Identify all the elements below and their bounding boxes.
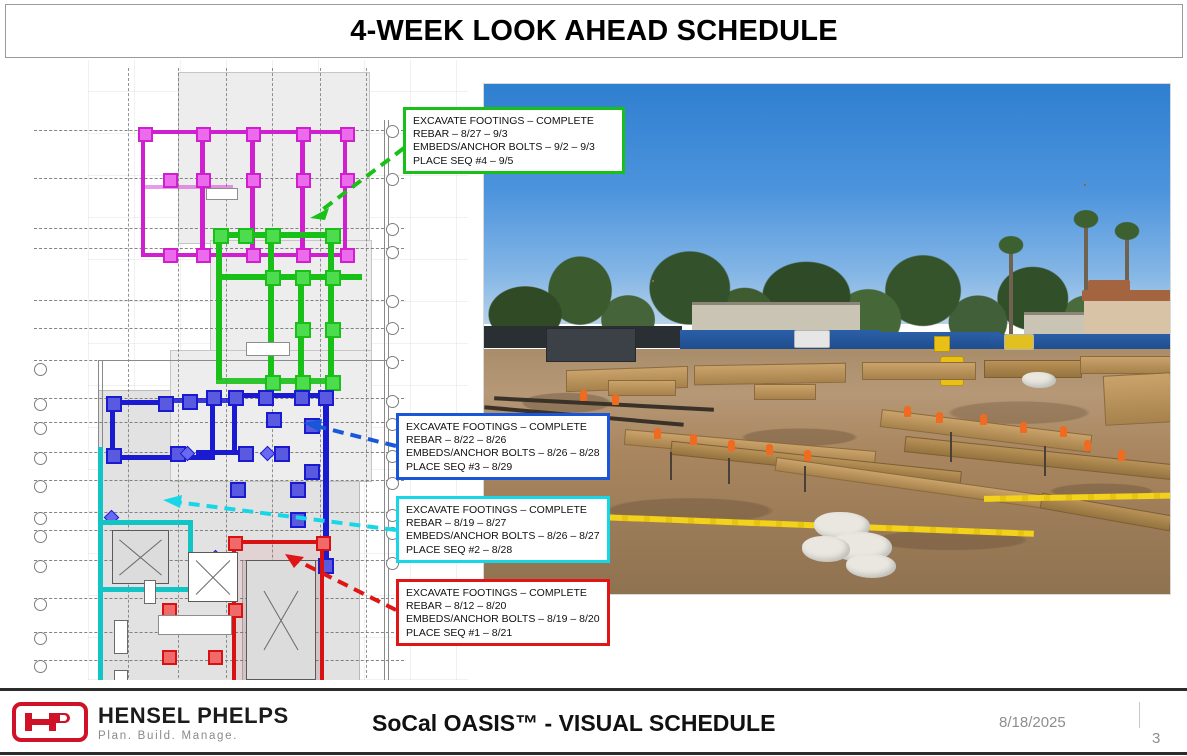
callout-seq1[interactable]: EXCAVATE FOOTINGS – COMPLETE REBAR – 8/1… — [396, 579, 610, 646]
plan-edge-line — [384, 120, 385, 680]
footing-pad-magenta — [138, 127, 153, 142]
rebar-cap — [804, 450, 811, 461]
footing-pad-blue — [290, 512, 306, 528]
footing-pad-blue — [266, 412, 282, 428]
footing-pad-magenta — [296, 127, 311, 142]
footing-pad-green — [265, 228, 281, 244]
grid-bubble — [34, 398, 47, 411]
footing-pad-red — [316, 536, 331, 551]
footer-rule-top — [0, 688, 1187, 691]
footing-pad-magenta — [196, 173, 211, 188]
brand-tagline: Plan. Build. Manage. — [98, 730, 289, 742]
footing-pad-blue — [290, 482, 306, 498]
rebar-cap — [980, 414, 987, 425]
plan-edge-line — [98, 360, 388, 361]
rebar-cap — [654, 428, 661, 439]
vehicle — [794, 330, 830, 348]
footing-pad-green — [325, 228, 341, 244]
site-fence — [680, 330, 880, 350]
logo-letter-p-counter — [60, 715, 67, 721]
rebar-cap — [1060, 426, 1067, 437]
footing-pad-green — [325, 270, 341, 286]
form-stake — [1044, 446, 1046, 476]
footing-pad-green — [325, 375, 341, 391]
grid-bubble — [386, 295, 399, 308]
grid-bubble — [386, 173, 399, 186]
tile-roof — [1088, 280, 1130, 292]
plan-note-box — [206, 188, 238, 200]
rebar-cap — [690, 434, 697, 445]
footing-pad-blue — [238, 446, 254, 462]
plan-note-box — [158, 615, 232, 635]
storage-container — [546, 328, 636, 362]
callout-line: REBAR – 8/12 – 8/20 — [406, 600, 600, 613]
grid-line-h — [34, 530, 404, 531]
grid-bubble — [386, 395, 399, 408]
callout-line: REBAR – 8/27 – 9/3 — [413, 128, 615, 141]
palm-fronds — [1112, 220, 1142, 242]
grade-beam-magenta — [200, 132, 205, 254]
grid-bubble — [386, 223, 399, 236]
yellow-bin — [934, 336, 950, 352]
formwork-board — [1084, 184, 1086, 186]
footing-pad-green — [295, 375, 311, 391]
grade-beam-blue — [110, 455, 210, 460]
footing-pad-red — [228, 536, 243, 551]
grid-bubble — [34, 530, 47, 543]
callout-line: EMBEDS/ANCHOR BOLTS – 8/26 – 8/27 — [406, 530, 600, 543]
sandbag — [802, 536, 850, 562]
callout-line: PLACE SEQ #3 – 8/29 — [406, 461, 600, 474]
form-stake — [670, 452, 672, 480]
footing-pad-blue — [158, 396, 174, 412]
footing-pad-green — [295, 270, 311, 286]
grid-bubble — [386, 356, 399, 369]
footing-pad-magenta — [246, 248, 261, 263]
grid-bubble — [34, 632, 47, 645]
footer-divider — [1139, 702, 1140, 728]
footing-pad-green — [265, 375, 281, 391]
callout-seq3[interactable]: EXCAVATE FOOTINGS – COMPLETE REBAR – 8/2… — [396, 413, 610, 480]
palm-fronds — [996, 234, 1026, 256]
footing-pad-blue — [106, 396, 122, 412]
grade-beam-blue — [232, 393, 328, 398]
footing-pad-magenta — [163, 248, 178, 263]
footing-pad-magenta — [246, 127, 261, 142]
sandbag — [846, 554, 896, 578]
footing-pad-blue — [318, 390, 334, 406]
footing-pad-blue — [182, 394, 198, 410]
grid-bubble — [34, 363, 47, 376]
callout-line: PLACE SEQ #4 – 9/5 — [413, 155, 615, 168]
rebar-cap — [580, 390, 587, 401]
form-stake — [804, 466, 806, 492]
plan-note-box — [246, 342, 290, 356]
footing-pad-magenta — [296, 173, 311, 188]
callout-line: EMBEDS/ANCHOR BOLTS – 9/2 – 9/3 — [413, 141, 615, 154]
page-title: 4-WEEK LOOK AHEAD SCHEDULE — [350, 15, 837, 48]
form-stake — [950, 432, 952, 462]
footing-pad-blue — [294, 390, 310, 406]
form-stake — [728, 458, 730, 484]
rebar-cap — [728, 440, 735, 451]
rebar-cap — [612, 394, 619, 405]
footing-pad-blue — [230, 482, 246, 498]
plywood-panel — [1103, 372, 1170, 425]
rebar-cap — [1020, 422, 1027, 433]
grid-line-h — [34, 422, 404, 423]
footing-pad-magenta — [196, 248, 211, 263]
footing-pad-blue — [106, 448, 122, 464]
grid-bubble — [386, 322, 399, 335]
footing-pad-magenta — [340, 173, 355, 188]
slide-title-bar: 4-WEEK LOOK AHEAD SCHEDULE — [5, 4, 1183, 58]
rebar-cap — [904, 406, 911, 417]
footing-pad-magenta — [296, 248, 311, 263]
grid-bubble — [34, 422, 47, 435]
grid-bubble — [34, 560, 47, 573]
grid-line-h — [34, 512, 404, 513]
footing-pad-blue — [274, 446, 290, 462]
formwork-board — [1080, 356, 1170, 374]
grid-bubble — [34, 660, 47, 673]
footing-pad-red — [208, 650, 223, 665]
rebar-cap — [766, 444, 773, 455]
grid-bubble — [34, 598, 47, 611]
palm-trunk — [1009, 246, 1013, 342]
footing-pad-blue — [206, 390, 222, 406]
footer-project-title: SoCal OASIS™ - VISUAL SCHEDULE — [372, 710, 775, 737]
callout-line: EXCAVATE FOOTINGS – COMPLETE — [406, 504, 600, 517]
hensel-phelps-logo-icon — [12, 702, 88, 742]
formwork-board — [652, 280, 654, 282]
footing-pad-blue — [304, 464, 320, 480]
elevator-shaft-symbol — [112, 530, 169, 584]
grid-bubble — [34, 480, 47, 493]
footing-pad-green — [325, 322, 341, 338]
opening-symbol — [188, 552, 238, 602]
slide-footer: HENSEL PHELPS Plan. Build. Manage. SoCal… — [0, 688, 1187, 756]
footing-pad-blue — [258, 390, 274, 406]
grid-bubble — [34, 452, 47, 465]
footing-pad-green — [295, 322, 311, 338]
rebar-cap — [936, 412, 943, 423]
rebar-cap — [1118, 450, 1125, 461]
footing-pad-magenta — [196, 127, 211, 142]
grid-bubble — [386, 246, 399, 259]
footing-pad-magenta — [340, 248, 355, 263]
stair-shaft-symbol — [246, 560, 316, 680]
callout-line: EXCAVATE FOOTINGS – COMPLETE — [406, 587, 600, 600]
callout-line: EMBEDS/ANCHOR BOLTS – 8/26 – 8/28 — [406, 447, 600, 460]
footing-pad-blue — [228, 390, 244, 406]
rebar-cap — [1084, 440, 1091, 451]
plan-symbol — [114, 670, 128, 680]
palm-fronds — [1071, 208, 1101, 230]
callout-seq4[interactable]: EXCAVATE FOOTINGS – COMPLETE REBAR – 8/2… — [403, 107, 625, 174]
slide-number: 3 — [1152, 730, 1160, 747]
footer-date: 8/18/2025 — [999, 714, 1066, 731]
grid-line-h — [34, 480, 404, 481]
brand-block: HENSEL PHELPS Plan. Build. Manage. — [98, 703, 289, 742]
footing-pad-magenta — [340, 127, 355, 142]
equipment — [1004, 334, 1034, 350]
callout-line: REBAR – 8/22 – 8/26 — [406, 434, 600, 447]
grid-line-v — [366, 68, 367, 680]
plan-symbol — [114, 620, 128, 654]
formwork-board — [862, 362, 976, 380]
grade-beam-green — [216, 232, 222, 380]
sandbag — [1022, 372, 1056, 388]
formwork-board — [754, 384, 816, 400]
formwork-board — [694, 363, 846, 386]
grid-bubble — [386, 125, 399, 138]
footing-pad-blue — [304, 418, 320, 434]
grade-beam-green — [268, 232, 274, 392]
formwork-board — [608, 380, 676, 396]
callout-line: EMBEDS/ANCHOR BOLTS – 8/19 – 8/20 — [406, 613, 600, 626]
plan-symbol — [144, 580, 156, 604]
footing-pad-green — [238, 228, 254, 244]
callout-seq2[interactable]: EXCAVATE FOOTINGS – COMPLETE REBAR – 8/1… — [396, 496, 610, 563]
callout-line: EXCAVATE FOOTINGS – COMPLETE — [406, 421, 600, 434]
callout-line: REBAR – 8/19 – 8/27 — [406, 517, 600, 530]
grid-bubble — [34, 512, 47, 525]
callout-line: EXCAVATE FOOTINGS – COMPLETE — [413, 115, 615, 128]
slide-body: EXCAVATE FOOTINGS – COMPLETE REBAR – 8/2… — [0, 58, 1187, 688]
footing-pad-magenta — [246, 173, 261, 188]
footer-rule-bottom — [0, 752, 1187, 755]
footing-pad-green — [265, 270, 281, 286]
callout-line: PLACE SEQ #1 – 8/21 — [406, 627, 600, 640]
footing-pad-red — [162, 650, 177, 665]
footing-pad-magenta — [163, 173, 178, 188]
brand-name: HENSEL PHELPS — [98, 703, 289, 729]
footing-pad-green — [213, 228, 229, 244]
callout-line: PLACE SEQ #2 – 8/28 — [406, 544, 600, 557]
